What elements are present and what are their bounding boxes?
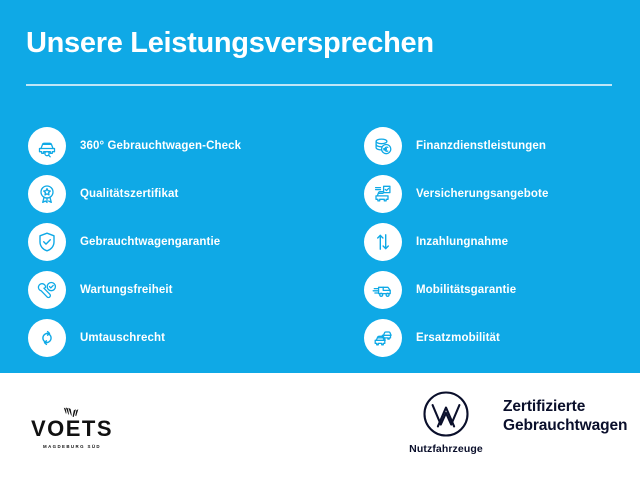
title-divider bbox=[26, 84, 612, 86]
certification-line-1: Zertifizierte bbox=[503, 398, 627, 417]
vw-logo bbox=[421, 389, 471, 439]
dealer-location: MAGDEBURG SÜD bbox=[28, 444, 116, 449]
benefit-item-ersatzmobilitaet: Ersatzmobilität bbox=[364, 314, 640, 362]
coins-euro-icon bbox=[364, 127, 402, 165]
voets-crown-icon bbox=[28, 395, 116, 417]
exchange-arrows-icon bbox=[28, 319, 66, 357]
benefit-label: Wartungsfreiheit bbox=[80, 284, 173, 296]
vw-division-label: Nutzfahrzeuge bbox=[403, 443, 489, 455]
shield-check-icon bbox=[28, 223, 66, 261]
promo-graphic: Unsere Leistungsversprechen 360 bbox=[0, 0, 640, 480]
car-document-icon bbox=[364, 175, 402, 213]
benefit-label: Qualitätszertifikat bbox=[80, 188, 178, 200]
vw-logo-group: Nutzfahrzeuge bbox=[403, 389, 489, 455]
benefit-item-qualitaetszertifikat: Qualitätszertifikat bbox=[28, 170, 332, 218]
car-inspection-icon bbox=[28, 127, 66, 165]
page-title: Unsere Leistungsversprechen bbox=[26, 27, 434, 60]
certification-label: Zertifizierte Gebrauchtwagen bbox=[503, 398, 627, 436]
vw-brand-block: Nutzfahrzeuge Zertifizierte Gebrauchtwag… bbox=[403, 389, 627, 455]
benefit-item-inzahlungnahme: Inzahlungnahme bbox=[364, 218, 640, 266]
benefit-label: Gebrauchtwagengarantie bbox=[80, 236, 220, 248]
benefit-item-finanzdienstleistungen: Finanzdienstleistungen bbox=[364, 122, 640, 170]
benefit-item-gebrauchtwagengarantie: Gebrauchtwagengarantie bbox=[28, 218, 332, 266]
dealer-logo: VOETS MAGDEBURG SÜD bbox=[28, 395, 116, 449]
benefit-label: Ersatzmobilität bbox=[416, 332, 500, 344]
benefits-grid: 360° Gebrauchtwagen-Check Qualitätszerti… bbox=[0, 122, 640, 362]
two-cars-icon bbox=[364, 319, 402, 357]
dealer-name: VOETS bbox=[28, 418, 116, 440]
hero-panel: Unsere Leistungsversprechen 360 bbox=[0, 0, 640, 373]
benefit-label: Mobilitätsgarantie bbox=[416, 284, 516, 296]
benefit-label: 360° Gebrauchtwagen-Check bbox=[80, 140, 241, 152]
benefit-label: Umtauschrecht bbox=[80, 332, 165, 344]
certification-line-2: Gebrauchtwagen bbox=[503, 417, 627, 436]
benefit-label: Finanzdienstleistungen bbox=[416, 140, 546, 152]
benefit-item-versicherungsangebote: Versicherungsangebote bbox=[364, 170, 640, 218]
van-speed-icon bbox=[364, 271, 402, 309]
benefit-item-mobilitaetsgarantie: Mobilitätsgarantie bbox=[364, 266, 640, 314]
benefit-item-umtauschrecht: Umtauschrecht bbox=[28, 314, 332, 362]
quality-seal-icon bbox=[28, 175, 66, 213]
benefit-item-wartungsfreiheit: Wartungsfreiheit bbox=[28, 266, 332, 314]
benefit-label: Inzahlungnahme bbox=[416, 236, 508, 248]
benefit-item-360-check: 360° Gebrauchtwagen-Check bbox=[28, 122, 332, 170]
benefits-column-left: 360° Gebrauchtwagen-Check Qualitätszerti… bbox=[0, 122, 332, 362]
benefits-column-right: Finanzdienstleistungen Versicheru bbox=[332, 122, 640, 362]
up-down-arrows-icon bbox=[364, 223, 402, 261]
benefit-label: Versicherungsangebote bbox=[416, 188, 548, 200]
wrench-check-icon bbox=[28, 271, 66, 309]
footer-bar: VOETS MAGDEBURG SÜD Nutzfahrzeuge Zertif… bbox=[0, 373, 640, 480]
